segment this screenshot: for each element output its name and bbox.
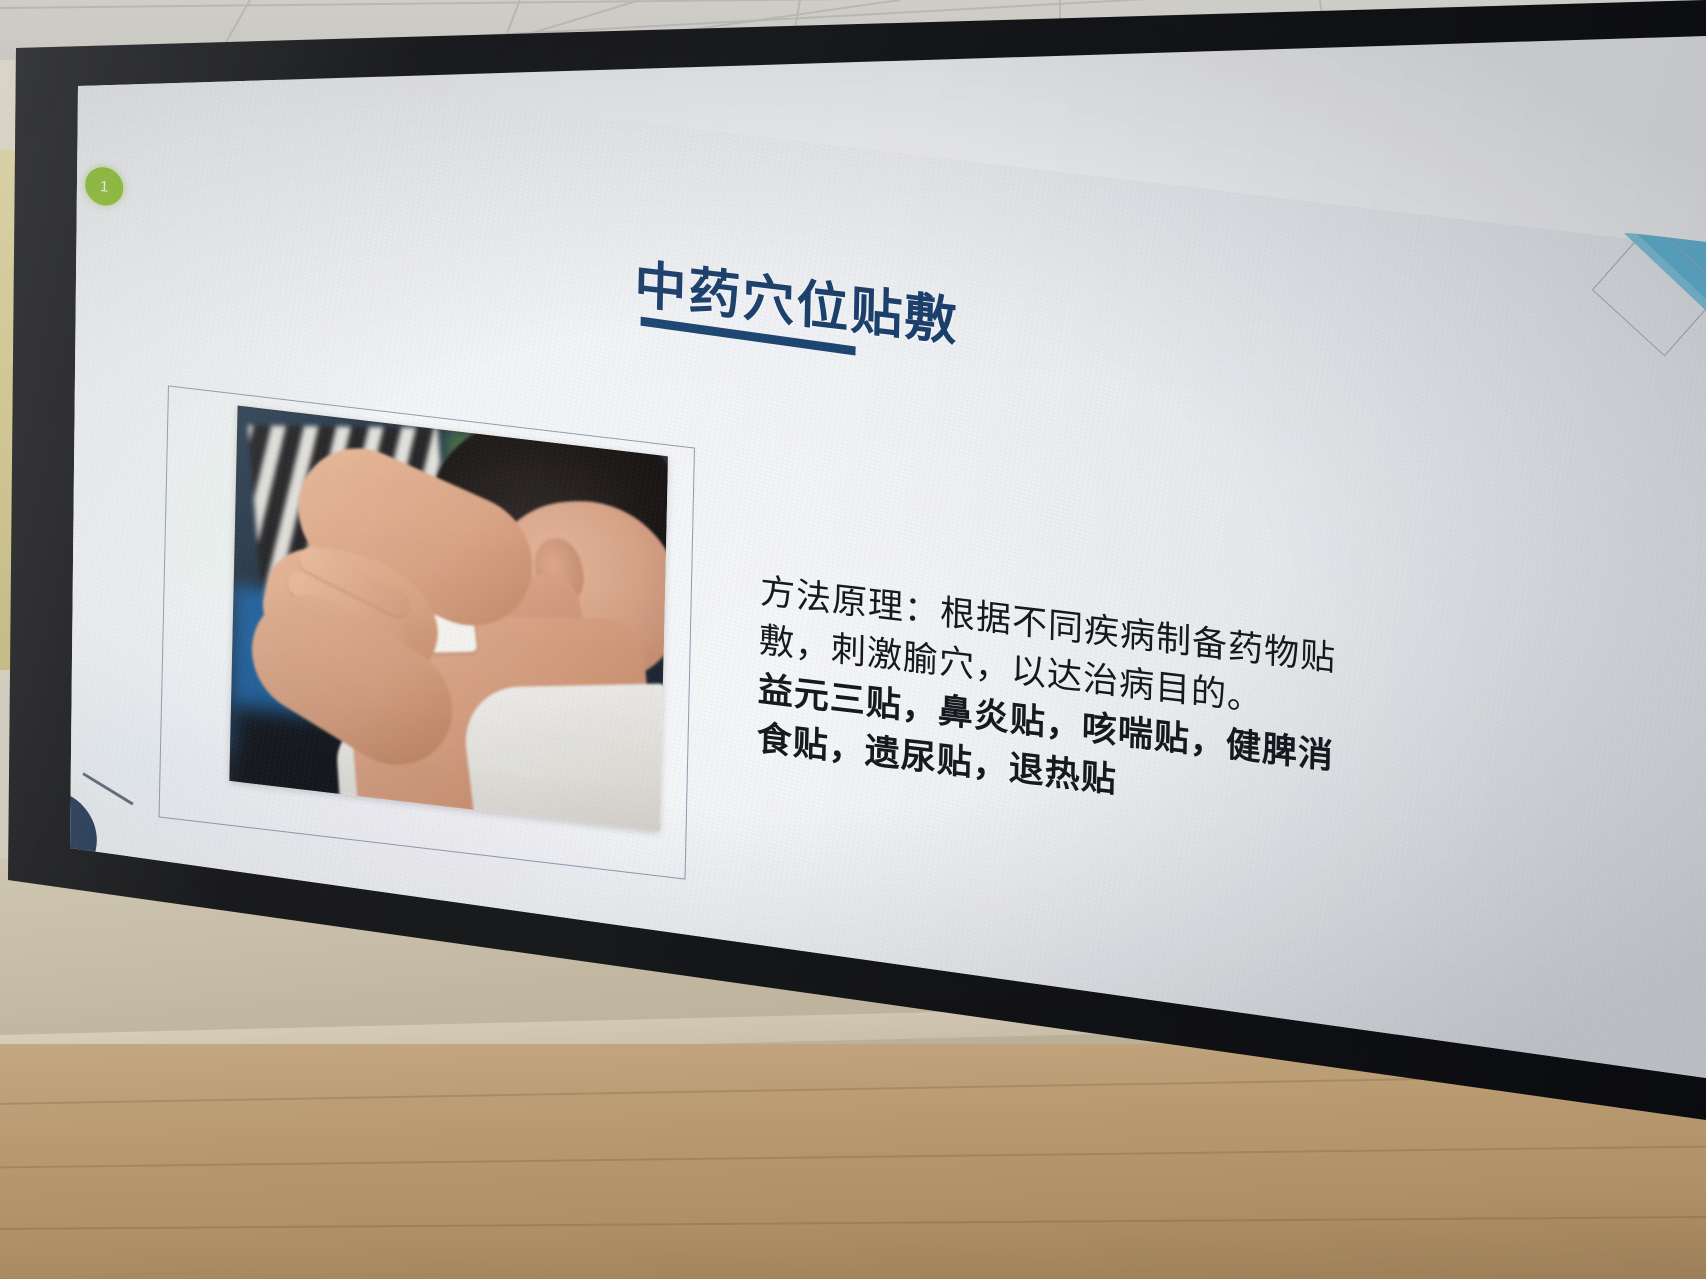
- slide-page-badge: 1: [85, 165, 124, 207]
- slide-body-text: 方法原理：根据不同疾病制备药物贴 敷，刺激腧穴，以达治病目的。 益元三贴，鼻炎贴…: [756, 568, 1400, 840]
- decorative-stem-line: [82, 772, 133, 805]
- photo-inner: [229, 406, 667, 832]
- photo-tone-overlay: [229, 406, 667, 832]
- slide-photo: [229, 406, 667, 832]
- decorative-corner-accent: [1561, 225, 1706, 385]
